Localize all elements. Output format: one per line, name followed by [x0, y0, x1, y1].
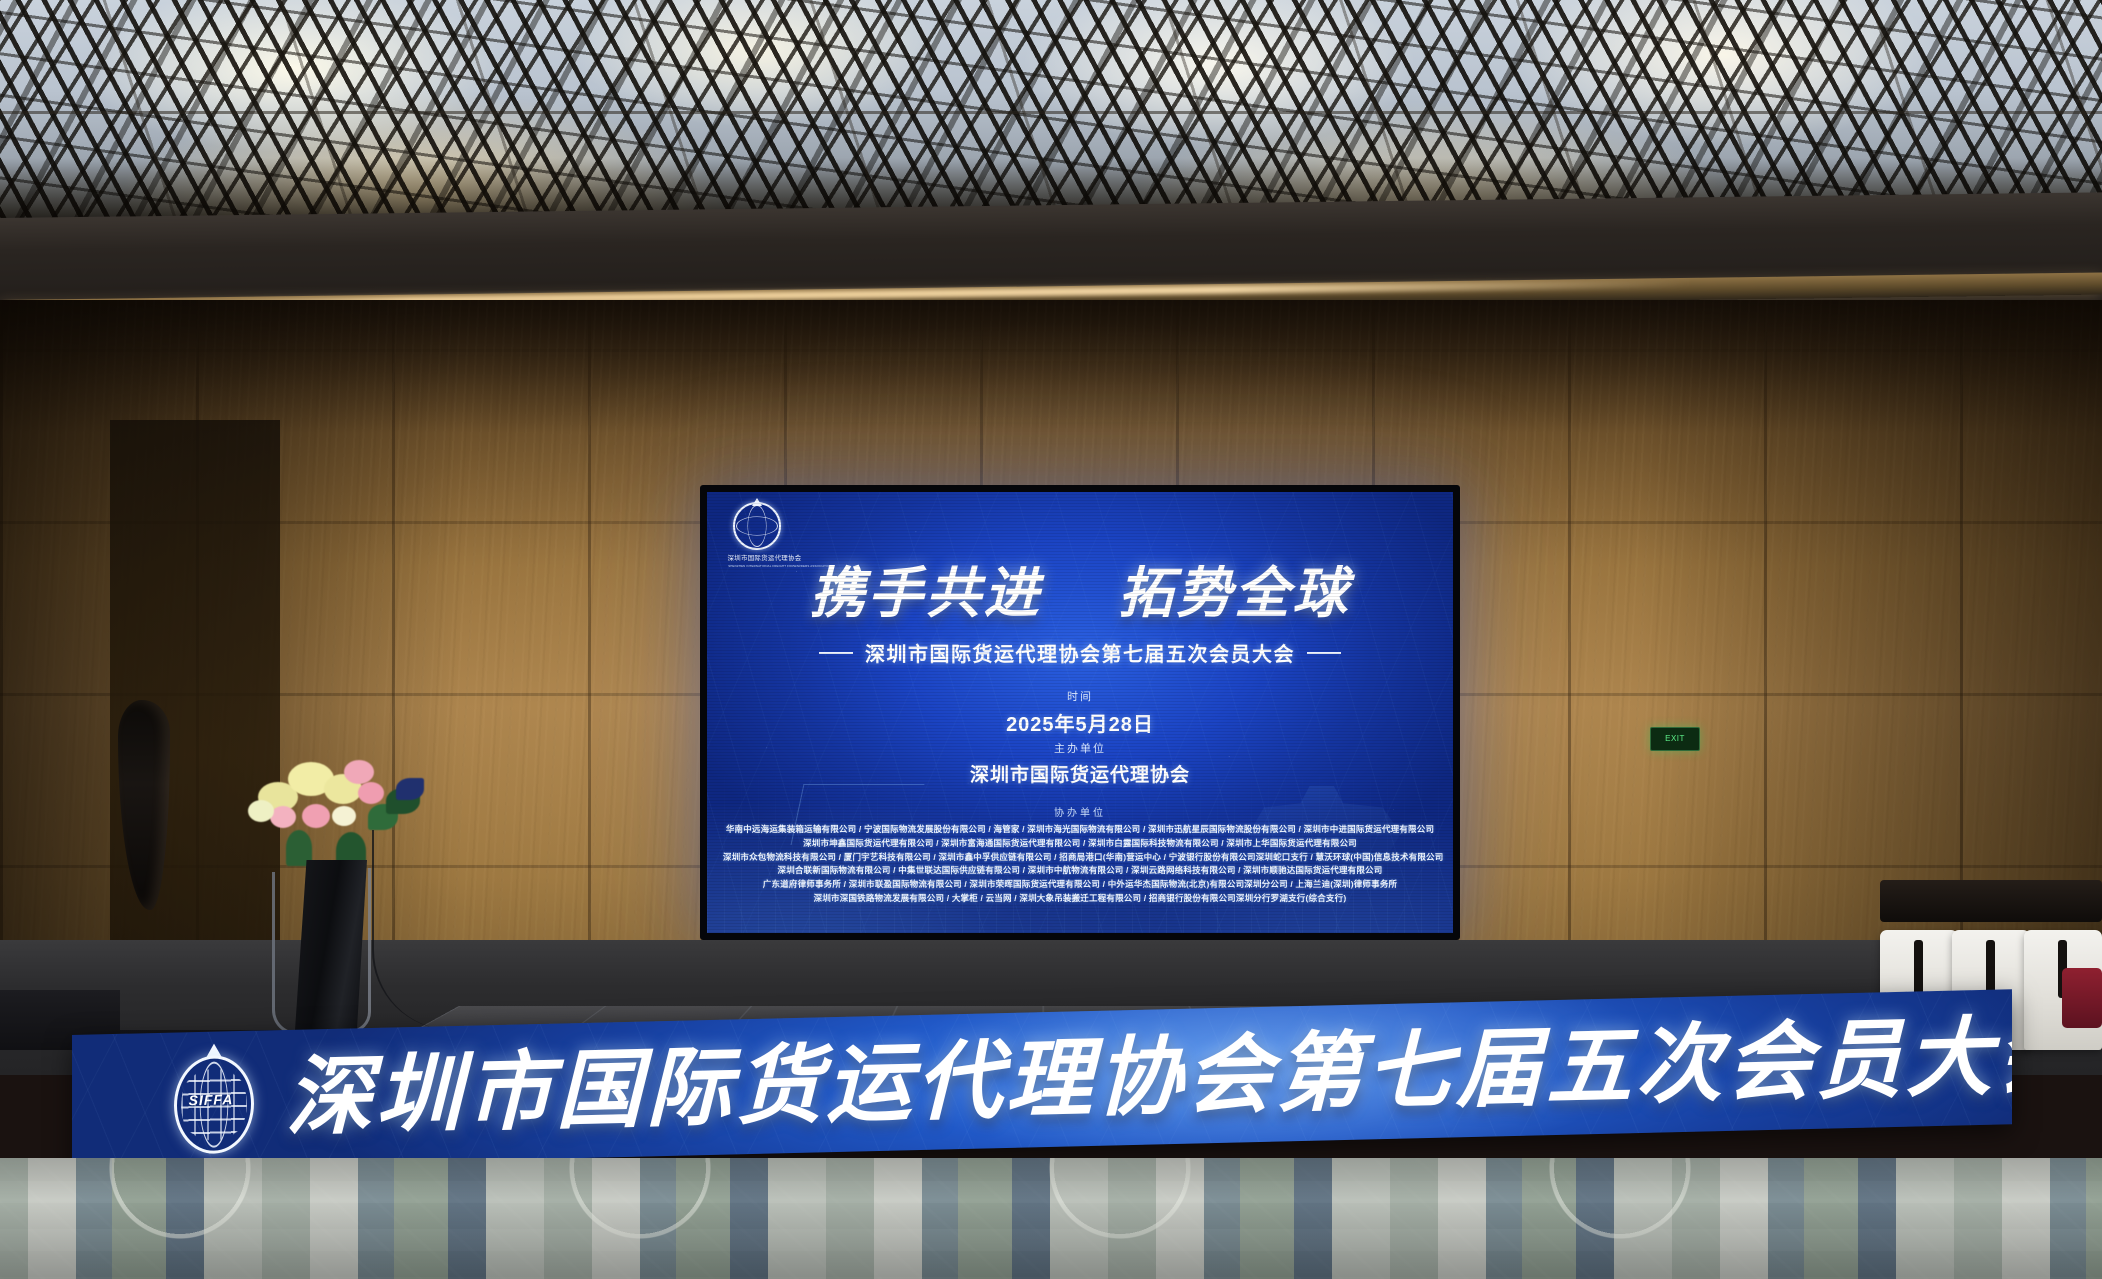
rule-right-icon	[1307, 652, 1341, 654]
association-logo-name-cn: 深圳市国际货运代理协会	[728, 553, 787, 562]
association-logo: 深圳市国际货运代理协会 SHENZHEN INTERNATIONAL FREIG…	[725, 502, 789, 568]
siffa-mark: SIFFA	[177, 1090, 245, 1108]
led-time-value: 2025年5月28日	[707, 708, 1453, 737]
cohost-row: 深圳市众包物流科技有限公司 / 厦门宇艺科技有限公司 / 深圳市鑫中孚供应链有限…	[707, 851, 1453, 865]
patterned-carpet-icon	[0, 1158, 2102, 1279]
lattice-ceiling-icon	[0, 0, 2102, 228]
cohost-row: 华南中远海运集装箱运输有限公司 / 宁波国际物流发展股份有限公司 / 海管家 /…	[707, 823, 1453, 837]
led-time-label: 时间	[707, 688, 1453, 704]
led-display-surface: 深圳市国际货运代理协会 SHENZHEN INTERNATIONAL FREIG…	[707, 492, 1453, 933]
cohost-row: 深圳市深国铁路物流发展有限公司 / 大掌柜 / 云当网 / 深圳大象吊装搬迁工程…	[707, 892, 1453, 906]
exit-sign-label: EXIT	[1665, 735, 1685, 743]
led-time-block: 时间 2025年5月28日	[707, 688, 1453, 737]
cohost-row: 广东道府律师事务所 / 深圳市联盈国际物流有限公司 / 深圳市荣晖国际货运代理有…	[707, 878, 1453, 892]
led-cohost-block: 协办单位 华南中远海运集装箱运输有限公司 / 宁波国际物流发展股份有限公司 / …	[707, 804, 1453, 906]
chair-backdrop	[1880, 880, 2102, 922]
podium-rail-left	[272, 872, 297, 1035]
red-object	[2062, 968, 2102, 1028]
carpet-shading	[0, 1158, 2102, 1279]
led-headline-left: 携手共进	[810, 562, 1042, 624]
led-host-label: 主办单位	[707, 740, 1453, 756]
microphone-cable	[372, 830, 494, 1030]
cohost-row: 深圳合联新国际物流有限公司 / 中集世联达国际供应链有限公司 / 深圳市中航物流…	[707, 864, 1453, 878]
podium-rail-right	[350, 868, 371, 1033]
rule-left-icon	[819, 652, 853, 654]
led-headline-right: 拓势全球	[1118, 562, 1350, 624]
led-screen: 深圳市国际货运代理协会 SHENZHEN INTERNATIONAL FREIG…	[700, 485, 1460, 940]
led-headline: 携手共进 拓势全球	[707, 566, 1453, 621]
led-host-value: 深圳市国际货运代理协会	[707, 760, 1453, 787]
siffa-globe-logo-icon: SIFFA	[168, 1044, 260, 1154]
cohost-row: 深圳市坤鑫国际货运代理有限公司 / 深圳市富海通国际货运代理有限公司 / 深圳市…	[707, 837, 1453, 851]
led-host-block: 主办单位 深圳市国际货运代理协会	[707, 740, 1453, 787]
globe-logo-icon	[733, 502, 781, 550]
led-subtitle-row: 深圳市国际货运代理协会第七届五次会员大会	[707, 638, 1453, 667]
conference-hall-photo: EXIT 深圳市国际货运代理协会 SHENZHEN INTERNATIONAL …	[0, 0, 2102, 1279]
led-content: 深圳市国际货运代理协会 SHENZHEN INTERNATIONAL FREIG…	[707, 492, 1453, 933]
banner-title: 深圳市国际货运代理协会第七届五次会员大会	[286, 1012, 2012, 1140]
exit-sign-icon: EXIT	[1650, 727, 1700, 751]
led-subtitle: 深圳市国际货运代理协会第七届五次会员大会	[865, 638, 1295, 667]
led-cohost-label: 协办单位	[707, 804, 1453, 819]
